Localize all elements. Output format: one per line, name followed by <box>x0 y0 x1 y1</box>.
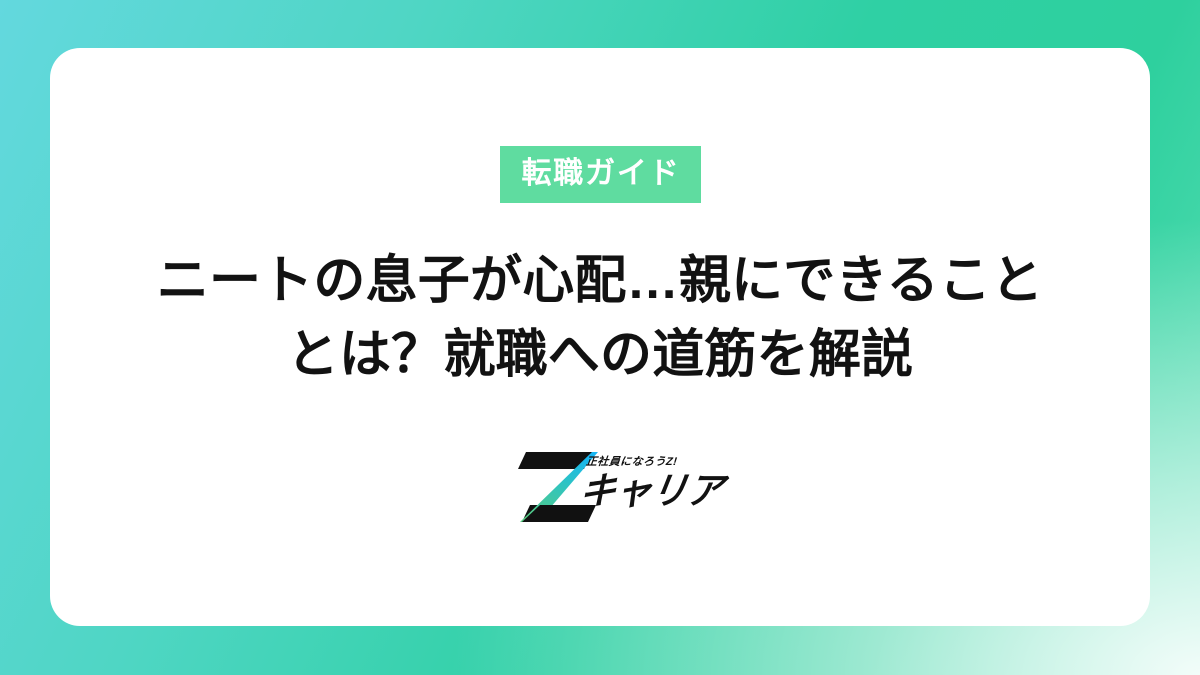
category-badge: 転職ガイド <box>500 146 701 203</box>
ogp-canvas: 転職ガイド ニートの息子が心配…親にできること とは？就職への道筋を解説 <box>0 0 1200 675</box>
site-logo: 正社員になろうZ! キャリア <box>500 445 700 527</box>
logo-tagline: 正社員になろうZ! <box>585 453 678 469</box>
page-title-line-2: とは？就職への道筋を解説 <box>120 319 1080 393</box>
page-title: ニートの息子が心配…親にできること とは？就職への道筋を解説 <box>120 245 1080 393</box>
logo-wordmark: キャリア <box>577 472 725 509</box>
page-title-line-1: ニートの息子が心配…親にできること <box>120 245 1080 319</box>
content-card: 転職ガイド ニートの息子が心配…親にできること とは？就職への道筋を解説 <box>50 48 1150 626</box>
